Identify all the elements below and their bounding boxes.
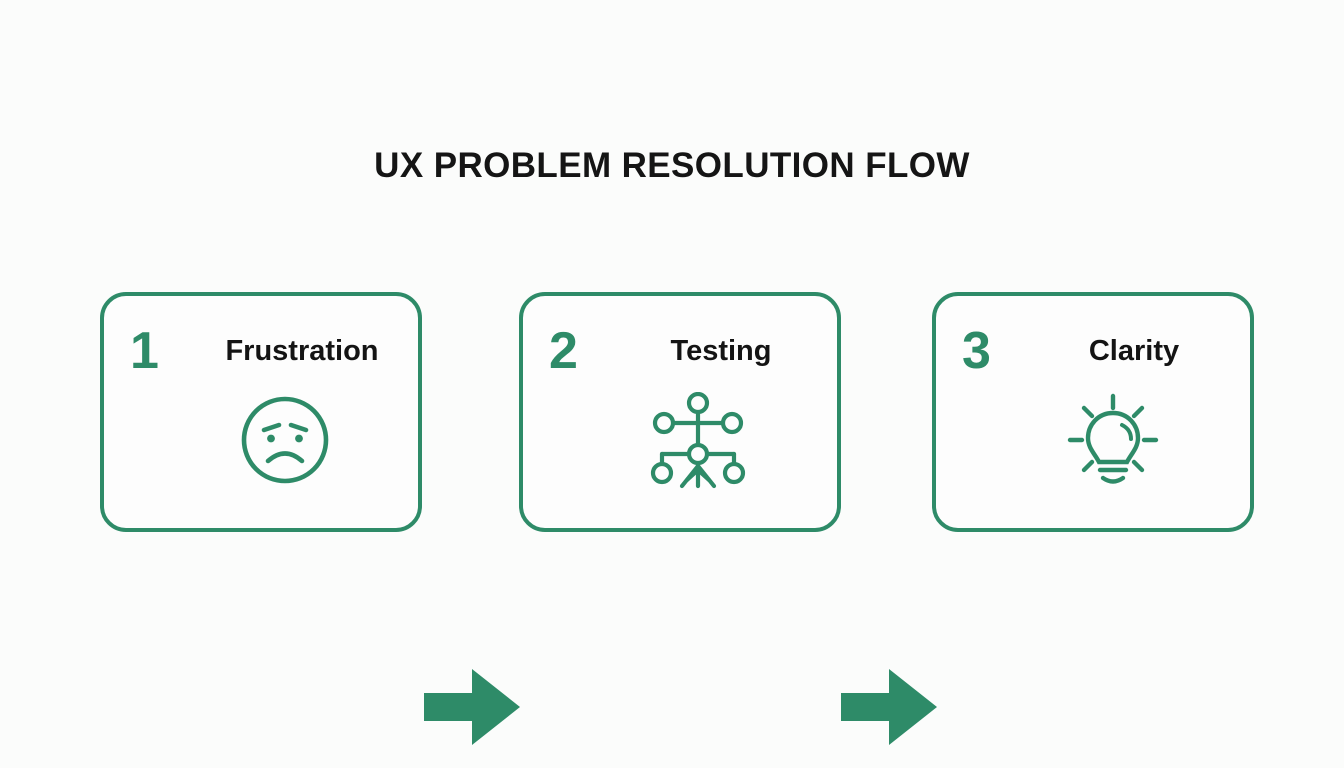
step-number-3: 3 — [962, 322, 991, 380]
flow-step-card-1[interactable]: 1 Frustration — [100, 292, 422, 532]
flow-step-card-2[interactable]: 2 Testing — [519, 292, 841, 532]
step-label-3: Clarity — [1022, 322, 1246, 380]
lightbulb-icon — [1062, 392, 1164, 492]
step-label-1: Frustration — [190, 322, 414, 380]
network-tree-icon — [646, 392, 750, 492]
step-icon-wrap-2 — [523, 392, 837, 492]
step-icon-wrap-3 — [936, 392, 1250, 492]
arrow-right-icon-1 — [424, 665, 520, 749]
arrow-right-icon-2 — [841, 665, 937, 749]
flow-step-header-2: 2 Testing — [523, 322, 837, 380]
step-icon-wrap-1 — [104, 392, 418, 488]
step-label-2: Testing — [609, 322, 833, 380]
flow-step-card-3[interactable]: 3 Clarity — [932, 292, 1254, 532]
flow-step-header-3: 3 Clarity — [936, 322, 1250, 380]
page-title: UX PROBLEM RESOLUTION FLOW — [0, 146, 1344, 186]
sad-face-icon — [237, 392, 333, 488]
step-number-2: 2 — [549, 322, 578, 380]
step-number-1: 1 — [130, 322, 159, 380]
diagram-canvas: UX PROBLEM RESOLUTION FLOW 1 Frustration — [0, 0, 1344, 768]
flow-row: 1 Frustration 2 Testing — [0, 292, 1344, 536]
flow-step-header-1: 1 Frustration — [104, 322, 418, 380]
